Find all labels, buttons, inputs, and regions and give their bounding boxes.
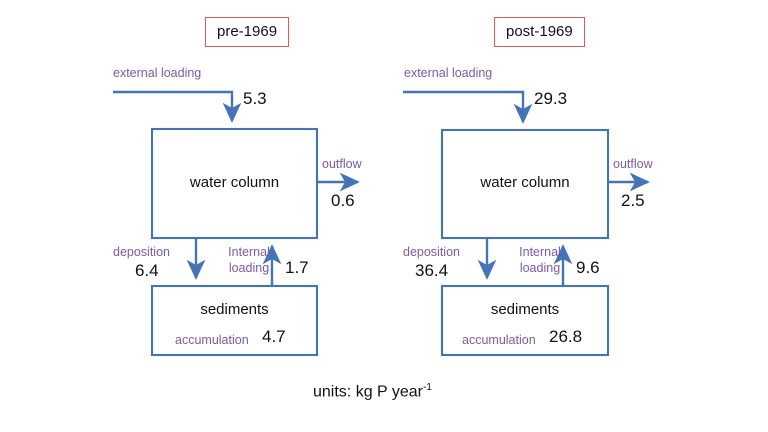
outflow-label-right: outflow bbox=[613, 157, 653, 171]
flow-diagram-svg bbox=[0, 0, 768, 432]
sediments-label-left: sediments bbox=[152, 301, 317, 318]
internal-loading-label-left: Internal loading bbox=[218, 245, 280, 276]
accumulation-value-left: 4.7 bbox=[262, 327, 286, 347]
internal-loading-label-right: Internal loading bbox=[509, 245, 571, 276]
units-caption-text: units: kg P year bbox=[313, 383, 423, 400]
accumulation-label-left: accumulation bbox=[175, 333, 249, 347]
water-column-label-left: water column bbox=[152, 174, 317, 191]
accumulation-label-right: accumulation bbox=[462, 333, 536, 347]
deposition-value-left: 6.4 bbox=[135, 261, 159, 281]
internal-loading-value-left: 1.7 bbox=[285, 258, 309, 278]
units-caption-exponent: -1 bbox=[423, 382, 432, 393]
external-loading-arrow-right bbox=[403, 92, 523, 122]
external-loading-label-right: external loading bbox=[404, 66, 492, 80]
external-loading-value-right: 29.3 bbox=[534, 89, 567, 109]
diagram-canvas: pre-1969 external loading 5.3 water colu… bbox=[0, 0, 768, 432]
external-loading-label-left: external loading bbox=[113, 66, 201, 80]
external-loading-arrow-left bbox=[113, 92, 232, 121]
external-loading-value-left: 5.3 bbox=[243, 89, 267, 109]
outflow-value-right: 2.5 bbox=[621, 191, 645, 211]
internal-loading-value-right: 9.6 bbox=[576, 258, 600, 278]
water-column-label-right: water column bbox=[442, 174, 608, 191]
panel-title-post-1969: post-1969 bbox=[494, 17, 585, 47]
panel-title-pre-1969: pre-1969 bbox=[205, 17, 289, 47]
deposition-label-left: deposition bbox=[113, 245, 170, 259]
sediments-label-right: sediments bbox=[442, 301, 608, 318]
deposition-value-right: 36.4 bbox=[415, 261, 448, 281]
outflow-label-left: outflow bbox=[322, 157, 362, 171]
accumulation-value-right: 26.8 bbox=[549, 327, 582, 347]
units-caption: units: kg P year-1 bbox=[313, 382, 432, 401]
outflow-value-left: 0.6 bbox=[331, 191, 355, 211]
deposition-label-right: deposition bbox=[403, 245, 460, 259]
